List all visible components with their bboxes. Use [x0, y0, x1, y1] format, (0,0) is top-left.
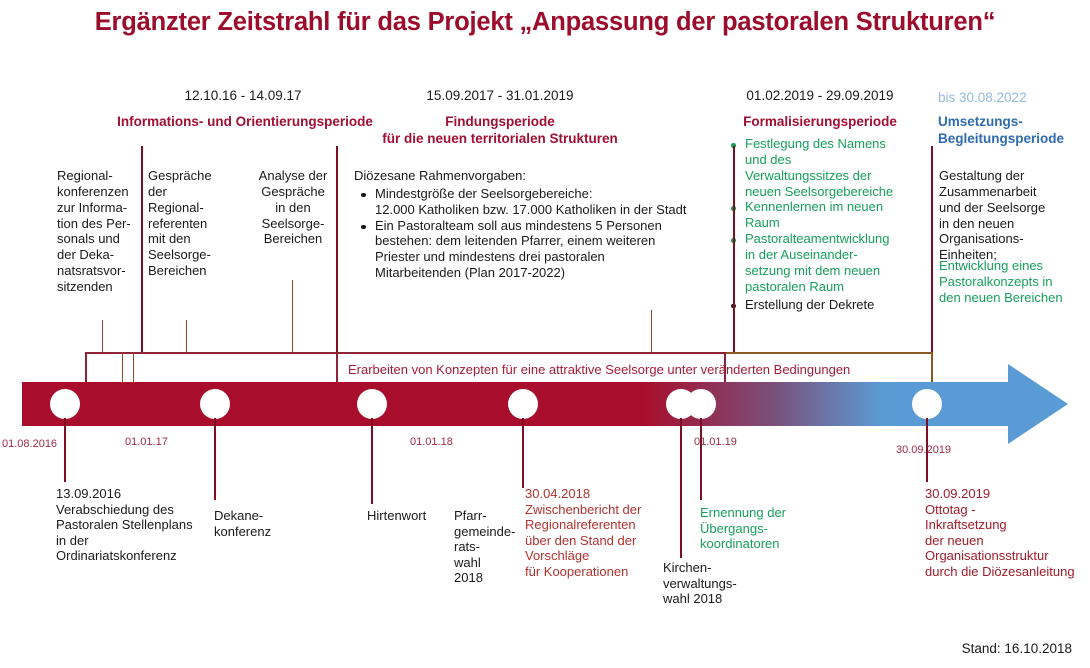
bracket-descender-1 [85, 352, 87, 384]
column-analyse-gespraeche: Analyse der Gespräche in den Seelsorge- … [243, 168, 343, 247]
drop-tick-col1 [102, 320, 103, 352]
bar-date-label: 01.08.2016 [2, 438, 57, 450]
formalisierung-item: Erstellung der Dekrete [724, 297, 922, 313]
timeline-arrow-icon [1008, 364, 1068, 444]
period-1-date: 12.10.16 - 14.09.17 [108, 88, 378, 103]
timeline-node[interactable] [50, 389, 80, 419]
label-pfarrgemeinderatswahl: Pfarr- gemeinde- rats- wahl 2018 [454, 508, 524, 586]
period-4-title-line1: Umsetzungs- [938, 114, 1088, 130]
period-2-title-line2: für die neuen territorialen Strukturen [335, 131, 665, 147]
bracket-line-right [725, 352, 933, 354]
bracket-descender-3 [133, 352, 134, 384]
bracket-descender-2 [122, 352, 123, 384]
node-stem [680, 418, 682, 558]
label-kirchenverwaltungswahl: Kirchen- verwaltungs- wahl 2018 [663, 560, 773, 607]
formalisierung-item: Pastoralteamentwicklung in der Auseinand… [724, 231, 922, 294]
bar-date-label: 01.01.19 [694, 436, 737, 448]
label-hirtenwort: Hirtenwort [367, 508, 457, 524]
page-title: Ergänzter Zeitstrahl für das Projekt „An… [0, 8, 1090, 37]
period-4-title-line2: Begleitungsperiode [938, 131, 1088, 147]
node-stem [522, 418, 524, 488]
node-stem [64, 418, 66, 482]
label-ernennung: Ernennung der Übergangs- koordinatoren [700, 505, 820, 552]
period-separator-4 [931, 146, 933, 352]
timeline-node[interactable] [508, 389, 538, 419]
column-formalisierung-list: Festlegung des Namens und des Verwaltung… [724, 136, 922, 312]
bar-banner-text: Erarbeiten von Konzepten für eine attrak… [348, 362, 922, 377]
bar-date-label: 01.01.18 [410, 436, 453, 448]
column-regionalkonferenzen: Regional- konferenzen zur Informa- tion … [57, 168, 143, 295]
period-2-title-line1: Findungsperiode [355, 114, 645, 130]
label-zwischenbericht: 30.04.2018 Zwischenbericht der Regionalr… [525, 486, 665, 580]
bracket-line-left [85, 352, 725, 354]
rahmenvorgaben-heading: Diözesane Rahmenvorgaben: [354, 168, 734, 184]
period-4-date: bis 30.08.2022 [938, 90, 1078, 105]
node-stem [371, 418, 373, 504]
rahmenvorgaben-item: Mindestgröße der Seelsorgebereiche: 12.0… [354, 186, 734, 218]
period-2-date: 15.09.2017 - 31.01.2019 [355, 88, 645, 103]
label-ottotag: 30.09.2019 Ottotag - Inkraftsetzung der … [925, 486, 1090, 580]
column-umsetzung-green: Entwicklung eines Pastoralkonzepts in de… [939, 258, 1090, 306]
period-separator-1 [141, 146, 143, 352]
period-separator-2 [336, 146, 338, 352]
period-3-title: Formalisierungsperiode [720, 114, 920, 130]
label-verabschiedung: 13.09.2016 Verabschiedung des Pastoralen… [56, 486, 226, 564]
column-umsetzung-black: Gestaltung der Zusammenarbeit und der Se… [939, 168, 1089, 263]
drop-tick-col2 [186, 320, 187, 352]
label-dekanekonferenz: Dekane- konferenz [214, 508, 314, 539]
rahmenvorgaben-item: Ein Pastoralteam soll aus mindestens 5 P… [354, 218, 734, 281]
bar-date-label: 30.09.2019 [896, 444, 951, 456]
column-gespraeche-regionalreferenten: Gespräche der Regional- referenten mit d… [148, 168, 232, 279]
formalisierung-list: Festlegung des Namens und des Verwaltung… [724, 136, 922, 312]
footer-stand: Stand: 16.10.2018 [962, 641, 1072, 656]
formalisierung-item: Kennenlernen im neuen Raum [724, 199, 922, 231]
timeline-node[interactable] [357, 389, 387, 419]
timeline-node[interactable] [200, 389, 230, 419]
timeline-node[interactable] [686, 389, 716, 419]
period-3-date: 01.02.2019 - 29.09.2019 [720, 88, 920, 103]
bracket-descender-6 [931, 352, 933, 384]
formalisierung-item: Festlegung des Namens und des Verwaltung… [724, 136, 922, 199]
drop-tick-col4 [651, 310, 652, 352]
column-diozesane-rahmenvorgaben: Diözesane Rahmenvorgaben: Mindestgröße d… [354, 168, 734, 281]
drop-tick-col3 [292, 280, 293, 352]
rahmenvorgaben-list: Mindestgröße der Seelsorgebereiche: 12.0… [354, 186, 734, 281]
period-separator-3 [733, 146, 735, 352]
bracket-descender-4 [336, 352, 338, 384]
node-stem [700, 418, 702, 500]
timeline-node[interactable] [912, 389, 942, 419]
bar-date-label: 01.01.17 [125, 436, 168, 448]
